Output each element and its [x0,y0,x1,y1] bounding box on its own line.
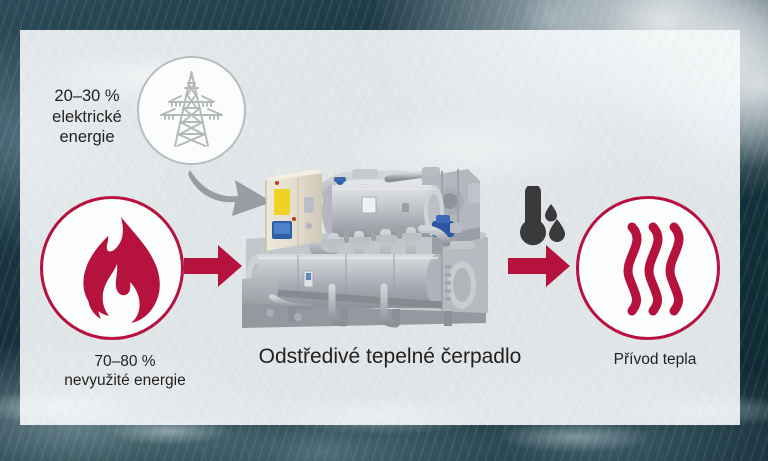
waste-heat-node [40,196,184,340]
chiller-illustration [236,163,494,328]
thermometer-droplets-icon [505,186,567,252]
waste-heat-label: 70–80 % nevyužité energie [30,352,220,391]
waste-to-machine-arrow [184,245,242,292]
red-arrow-right-icon-2 [508,245,570,287]
electric-label-line3: energie [22,127,152,148]
heat-output-label: Přívod tepla [580,350,730,369]
waste-label-line1: 70–80 % [30,352,220,371]
flame-icon [43,199,181,337]
machine-to-output-arrow [508,245,570,292]
electric-label-line1: 20–30 % [22,86,152,107]
waste-label-line2: nevyužité energie [30,371,220,390]
heat-output-node [576,196,720,340]
diagram-canvas: 20–30 % elektrické energie 70–80 % nevyu… [0,0,768,461]
red-arrow-right-icon [184,245,242,287]
centrifugal-chiller-image [236,163,494,328]
machine-label: Odstředivé tepelné čerpadlo [220,344,560,370]
electric-energy-label: 20–30 % elektrické energie [22,86,152,148]
heat-waves-icon [579,199,717,337]
electric-label-line2: elektrické [22,107,152,128]
